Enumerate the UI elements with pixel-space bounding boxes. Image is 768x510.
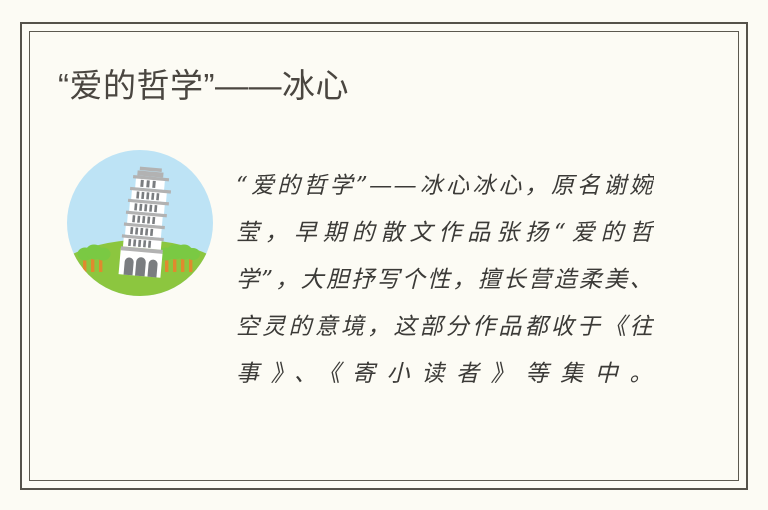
pisa-tower-illustration: [67, 150, 213, 296]
article-card: “爱的哲学”——冰心: [0, 0, 768, 510]
article-body: “爱的哲学”——冰心冰心，原名谢婉莹，早期的散文作品张扬“爱的哲学”，大胆抒写个…: [236, 163, 654, 398]
page-title: “爱的哲学”——冰心: [58, 64, 349, 108]
